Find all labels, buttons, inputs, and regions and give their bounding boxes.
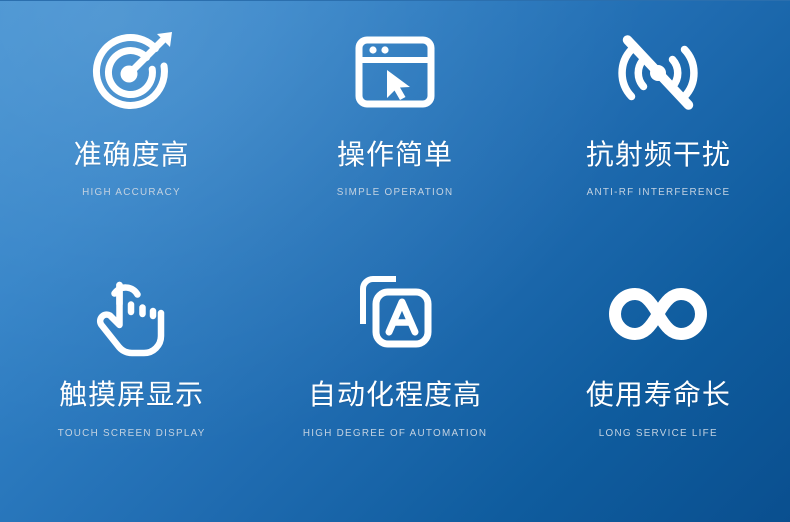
auto-letter-a-cards-icon	[349, 262, 441, 366]
feature-card-long-service-life: 使用寿命长 LONG SERVICE LIFE	[527, 262, 790, 504]
feature-subtitle: LONG SERVICE LIFE	[599, 428, 718, 439]
signal-blocked-icon	[612, 20, 704, 124]
feature-title: 抗射频干扰	[586, 142, 731, 170]
touch-hand-icon	[86, 262, 178, 366]
feature-title: 自动化程度高	[308, 382, 482, 410]
feature-subtitle: HIGH DEGREE OF AUTOMATION	[303, 428, 487, 439]
target-arrow-icon	[86, 20, 178, 124]
feature-highlights-panel: 准确度高 HIGH ACCURACY 操作简单 SIMPLE OPERATION	[0, 0, 790, 522]
feature-title: 操作简单	[337, 142, 453, 170]
feature-card-anti-rf-interference: 抗射频干扰 ANTI-RF INTERFERENCE	[527, 20, 790, 262]
feature-card-touch-screen-display: 触摸屏显示 TOUCH SCREEN DISPLAY	[0, 262, 263, 504]
feature-card-high-degree-automation: 自动化程度高 HIGH DEGREE OF AUTOMATION	[263, 262, 526, 504]
browser-window-cursor-icon	[349, 20, 441, 124]
feature-title: 触摸屏显示	[59, 382, 204, 410]
feature-grid: 准确度高 HIGH ACCURACY 操作简单 SIMPLE OPERATION	[0, 1, 790, 504]
feature-card-simple-operation: 操作简单 SIMPLE OPERATION	[263, 20, 526, 262]
feature-subtitle: SIMPLE OPERATION	[337, 187, 454, 198]
feature-title: 准确度高	[74, 142, 190, 170]
feature-title: 使用寿命长	[586, 382, 731, 410]
infinity-icon	[606, 262, 710, 366]
feature-subtitle: TOUCH SCREEN DISPLAY	[58, 428, 206, 439]
feature-card-high-accuracy: 准确度高 HIGH ACCURACY	[0, 20, 263, 262]
feature-subtitle: ANTI-RF INTERFERENCE	[586, 187, 730, 198]
feature-subtitle: HIGH ACCURACY	[82, 187, 181, 198]
